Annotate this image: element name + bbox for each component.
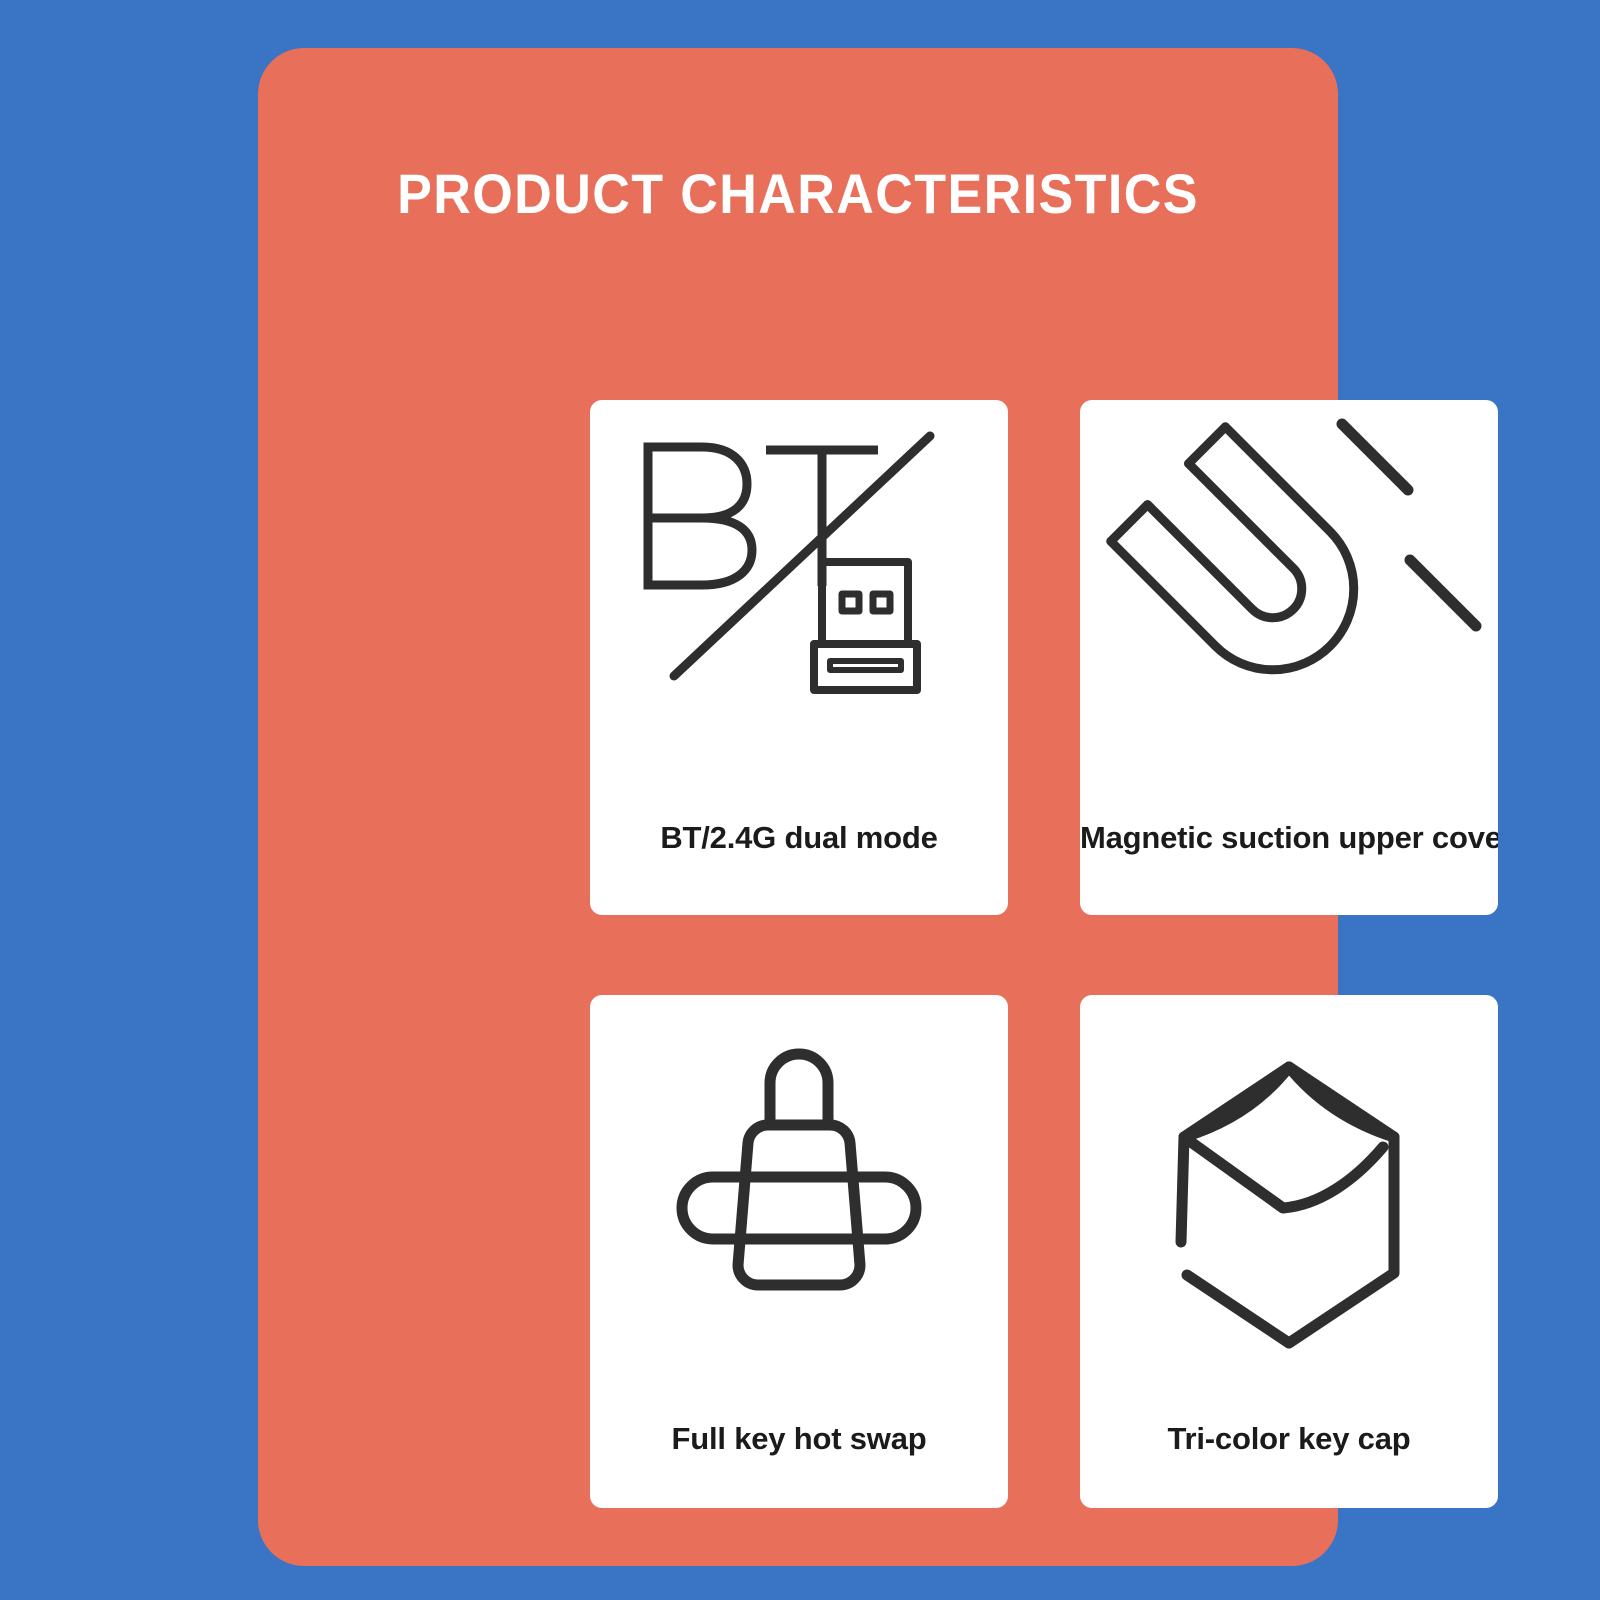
feature-card-label: BT/2.4G dual mode bbox=[590, 822, 1008, 853]
feature-card-grid: BT/2.4G dual mode bbox=[590, 400, 1498, 1508]
feature-card-keycap[interactable]: Tri-color key cap bbox=[1080, 995, 1498, 1508]
feature-card-bt-24g[interactable]: BT/2.4G dual mode bbox=[590, 400, 1008, 915]
feature-card-label: Full key hot swap bbox=[590, 1423, 1008, 1454]
product-characteristics-panel: PRODUCT CHARACTERISTICS bbox=[258, 48, 1338, 1566]
feature-card-hot-swap[interactable]: Full key hot swap bbox=[590, 995, 1008, 1508]
page-title: PRODUCT CHARACTERISTICS bbox=[296, 166, 1300, 222]
feature-card-magnetic-cover[interactable]: Magnetic suction upper cover bbox=[1080, 400, 1498, 915]
infographic-stage: PRODUCT CHARACTERISTICS bbox=[0, 0, 1600, 1600]
keyboard-switch-icon bbox=[590, 995, 1008, 1415]
bluetooth-24g-dongle-icon bbox=[590, 400, 1008, 820]
keycap-isometric-icon bbox=[1080, 995, 1498, 1415]
horseshoe-magnet-icon bbox=[1080, 400, 1498, 820]
feature-card-label: Tri-color key cap bbox=[1080, 1423, 1498, 1454]
feature-card-label: Magnetic suction upper cover bbox=[1080, 822, 1498, 853]
